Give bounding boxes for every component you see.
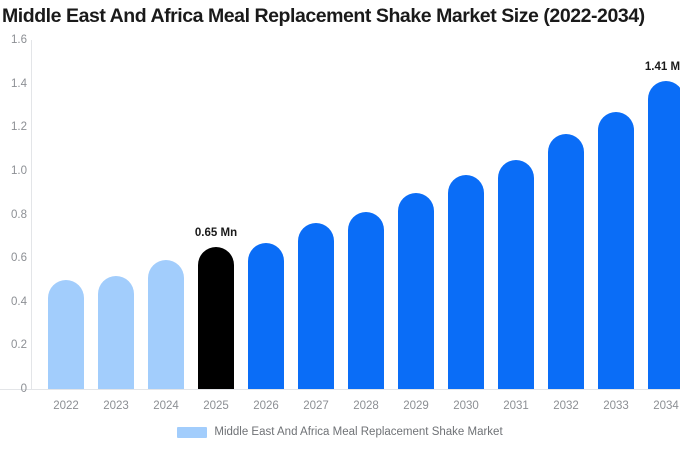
bar-slot <box>491 40 541 389</box>
y-axis-tick-labels: 1.61.41.21.00.80.60.40.20 <box>0 40 27 390</box>
y-axis-tick: 1.6 <box>1 34 27 46</box>
bar-slot <box>241 40 291 389</box>
y-axis-tick: 1.2 <box>1 121 27 133</box>
chart-container: Middle East And Africa Meal Replacement … <box>0 0 680 450</box>
legend-label[interactable]: Middle East And Africa Meal Replacement … <box>214 426 502 439</box>
bar-slot <box>541 40 591 389</box>
x-axis-tick-2029: 2029 <box>391 399 441 413</box>
bar-2023[interactable] <box>98 276 134 389</box>
bar-slot <box>341 40 391 389</box>
y-axis-tick: 1.4 <box>1 78 27 90</box>
bar-slot <box>141 40 191 389</box>
x-axis-tick-2032: 2032 <box>541 399 591 413</box>
bar-slot: 1.41 Mn <box>641 40 680 389</box>
bar-2026[interactable] <box>248 243 284 389</box>
x-axis-tick-2022: 2022 <box>41 399 91 413</box>
y-axis-tick: 0.2 <box>1 339 27 351</box>
x-axis-tick-2033: 2033 <box>591 399 641 413</box>
x-axis-tick-2025: 2025 <box>191 399 241 413</box>
x-axis-tick-2023: 2023 <box>91 399 141 413</box>
bar-2025[interactable] <box>198 247 234 389</box>
bar-2024[interactable] <box>148 260 184 389</box>
x-axis-tick-2031: 2031 <box>491 399 541 413</box>
x-axis-tick-2026: 2026 <box>241 399 291 413</box>
bar-value-label-2034: 1.41 Mn <box>629 61 680 74</box>
bar-2032[interactable] <box>548 134 584 389</box>
y-axis-tick: 0 <box>1 383 27 395</box>
x-axis-tick-2024: 2024 <box>141 399 191 413</box>
bar-2033[interactable] <box>598 112 634 389</box>
bar-slot <box>391 40 441 389</box>
y-axis-tick: 0.8 <box>1 209 27 221</box>
bar-2027[interactable] <box>298 223 334 389</box>
chart-legend: Middle East And Africa Meal Replacement … <box>0 426 680 439</box>
bar-2028[interactable] <box>348 212 384 389</box>
x-axis-tick-2034: 2034 <box>641 399 680 413</box>
y-axis-tick: 1.0 <box>1 165 27 177</box>
bar-2034[interactable] <box>648 81 680 389</box>
bar-slot <box>41 40 91 389</box>
chart-title: Middle East And Africa Meal Replacement … <box>2 2 680 30</box>
bar-series: 0.65 Mn1.41 Mn <box>31 40 680 389</box>
bar-2031[interactable] <box>498 160 534 389</box>
legend-swatch <box>177 427 207 438</box>
y-axis-tick: 0.6 <box>1 252 27 264</box>
bar-2030[interactable] <box>448 175 484 389</box>
bar-2029[interactable] <box>398 193 434 389</box>
bar-slot: 0.65 Mn <box>191 40 241 389</box>
x-axis-tick-2030: 2030 <box>441 399 491 413</box>
x-axis-tick-labels: 2022202320242025202620272028202920302031… <box>31 399 680 417</box>
y-axis-tick: 0.4 <box>1 296 27 308</box>
bar-slot <box>291 40 341 389</box>
x-axis-tick-2028: 2028 <box>341 399 391 413</box>
bar-2022[interactable] <box>48 280 84 389</box>
bar-slot <box>91 40 141 389</box>
bar-slot <box>591 40 641 389</box>
bar-slot <box>441 40 491 389</box>
x-axis-line <box>0 389 680 390</box>
x-axis-tick-2027: 2027 <box>291 399 341 413</box>
